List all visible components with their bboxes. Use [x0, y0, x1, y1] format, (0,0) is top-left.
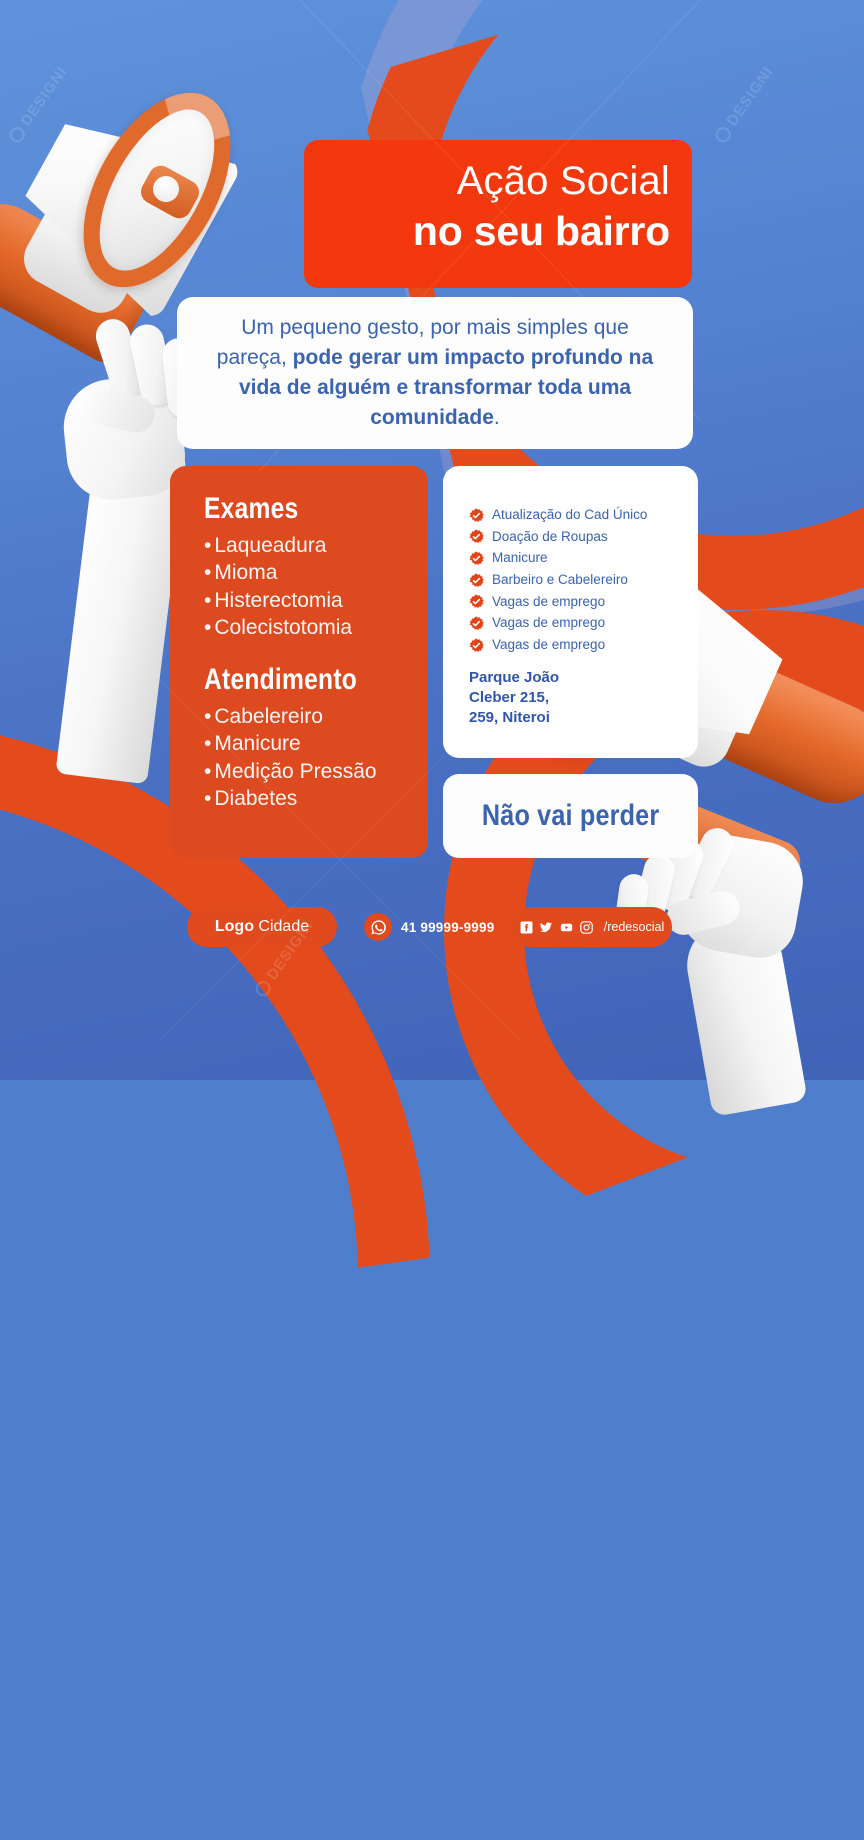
list-item-label: Barbeiro e Cabelereiro: [492, 571, 628, 590]
cta-card[interactable]: Não vai perder: [443, 774, 698, 858]
list-item: •Medição Pressão: [204, 758, 428, 785]
list-item: Vagas de emprego: [469, 593, 698, 612]
description-end: .: [494, 406, 500, 429]
phone-group[interactable]: 41 99999-9999: [364, 907, 494, 947]
list-item: •Cabelereiro: [204, 703, 428, 730]
list-item-label: Colecistotomia: [214, 616, 352, 639]
list-item-label: Vagas de emprego: [492, 593, 605, 612]
flyer-content: Ação Social no seu bairro Um pequeno ges…: [0, 0, 864, 1080]
list-item: Doação de Roupas: [469, 528, 698, 547]
bullet-icon: •: [204, 760, 211, 783]
logo-text: Logo Cidade: [215, 918, 309, 936]
footer: Logo Cidade 41 99999-9999 /redesocial: [0, 902, 864, 952]
facebook-icon[interactable]: [520, 921, 533, 934]
list-item-label: Cabelereiro: [214, 705, 323, 728]
address-line-3: 259, Niteroi: [469, 708, 698, 728]
title-card: Ação Social no seu bairro: [304, 140, 692, 288]
title-line-1: Ação Social: [304, 158, 670, 205]
twitter-icon[interactable]: [539, 921, 553, 934]
bullet-icon: •: [204, 787, 211, 810]
description-text: Um pequeno gesto, por mais simples que p…: [205, 313, 665, 432]
list-item: Vagas de emprego: [469, 614, 698, 633]
verified-check-badge-icon: [469, 573, 484, 588]
phone-number: 41 99999-9999: [401, 920, 494, 935]
social-icons: [520, 921, 593, 934]
list-item: Atualização do Cad Único: [469, 506, 698, 525]
verified-check-badge-icon: [469, 551, 484, 566]
verified-check-badge-icon: [469, 529, 484, 544]
logo-bold: Logo: [215, 918, 254, 935]
logo-rest: Cidade: [254, 918, 309, 935]
bullet-icon: •: [204, 732, 211, 755]
address-line-2: Cleber 215,: [469, 688, 698, 708]
logo-pill[interactable]: Logo Cidade: [187, 907, 337, 947]
list-item: •Mioma: [204, 559, 428, 586]
verified-check-badge-icon: [469, 638, 484, 653]
list-item: Manicure: [469, 549, 698, 568]
services-list-atendimento: •Cabelereiro •Manicure •Medição Pressão …: [204, 703, 428, 812]
services-list-exames: •Laqueadura •Mioma •Histerectomia •Colec…: [204, 532, 428, 641]
list-item-label: Manicure: [492, 549, 548, 568]
description-bold: pode gerar um impacto profundo na vida d…: [239, 346, 653, 429]
services-card: Exames •Laqueadura •Mioma •Histerectomia…: [170, 466, 428, 858]
verified-check-badge-icon: [469, 594, 484, 609]
youtube-icon[interactable]: [559, 921, 574, 934]
list-item: Vagas de emprego: [469, 636, 698, 655]
address-line-1: Parque João: [469, 668, 698, 688]
list-item-label: Laqueadura: [214, 534, 326, 557]
list-item-label: Vagas de emprego: [492, 614, 605, 633]
bullet-icon: •: [204, 705, 211, 728]
list-item-label: Histerectomia: [214, 589, 342, 612]
title-line-2: no seu bairro: [304, 207, 670, 256]
social-handle: /redesocial: [604, 920, 664, 934]
whatsapp-icon[interactable]: [364, 913, 392, 941]
list-item-label: Mioma: [214, 561, 277, 584]
list-item-label: Vagas de emprego: [492, 636, 605, 655]
checklist-card: Atualização do Cad Único Doação de Roupa…: [443, 466, 698, 758]
list-item: •Diabetes: [204, 785, 428, 812]
list-item: Barbeiro e Cabelereiro: [469, 571, 698, 590]
verified-check-badge-icon: [469, 508, 484, 523]
list-item: •Colecistotomia: [204, 614, 428, 641]
verified-check-badge-icon: [469, 616, 484, 631]
list-item-label: Medição Pressão: [214, 760, 376, 783]
list-item: •Laqueadura: [204, 532, 428, 559]
services-heading-exames: Exames: [204, 492, 388, 526]
list-item-label: Doação de Roupas: [492, 528, 608, 547]
bullet-icon: •: [204, 534, 211, 557]
checklist: Atualização do Cad Único Doação de Roupa…: [469, 506, 698, 654]
instagram-icon[interactable]: [580, 921, 593, 934]
description-card: Um pequeno gesto, por mais simples que p…: [177, 297, 693, 449]
list-item-label: Atualização do Cad Único: [492, 506, 647, 525]
bullet-icon: •: [204, 616, 211, 639]
services-heading-atendimento: Atendimento: [204, 663, 388, 697]
cta-label: Não vai perder: [482, 799, 659, 833]
list-item-label: Manicure: [214, 732, 300, 755]
list-item: •Histerectomia: [204, 587, 428, 614]
bullet-icon: •: [204, 561, 211, 584]
list-item: •Manicure: [204, 730, 428, 757]
list-item-label: Diabetes: [214, 787, 297, 810]
address-block: Parque João Cleber 215, 259, Niteroi: [469, 668, 698, 728]
bullet-icon: •: [204, 589, 211, 612]
social-pill[interactable]: /redesocial: [512, 907, 672, 947]
